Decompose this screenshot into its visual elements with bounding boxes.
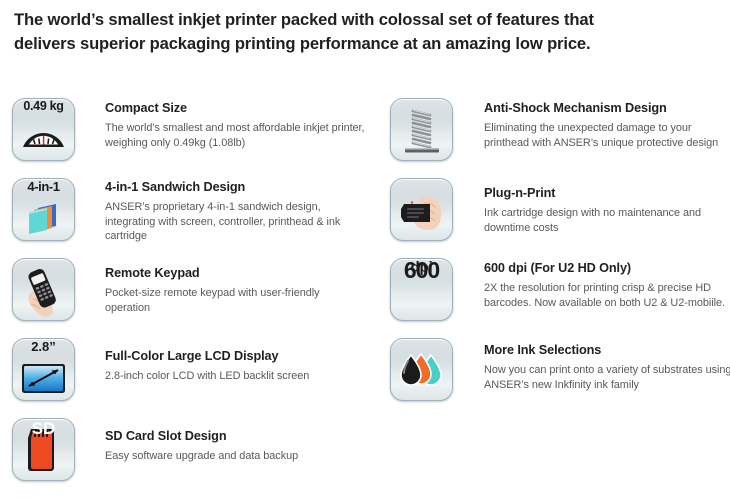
feature-description: 2.8-inch color LCD with LED backlit scre… — [105, 369, 367, 384]
sandwich-layers-icon: 4-in-1 — [12, 178, 75, 241]
feature-description: Eliminating the unexpected damage to you… — [484, 121, 730, 150]
feature-item-compact-size: 0.49 kg Compact Size The world’s smalles… — [10, 95, 370, 175]
feature-title: Anti-Shock Mechanism Design — [484, 101, 730, 116]
feature-description: The world’s smallest and most affordable… — [105, 121, 367, 150]
feature-item-sandwich-design: 4-in-1 4-in-1 Sandwich Design ANSER’s pr… — [10, 175, 370, 255]
page-headline: The world’s smallest inkjet printer pack… — [14, 8, 714, 55]
feature-text-block: Plug-n-Print Ink cartridge design with n… — [484, 186, 730, 235]
coil-spring-glyph — [391, 99, 452, 160]
hand-ink-cartridge-icon — [390, 178, 453, 241]
ink-drops-icon — [390, 338, 453, 401]
feature-title: 4-in-1 Sandwich Design — [105, 180, 367, 195]
feature-item-more-ink-selections: More Ink Selections Now you can print on… — [388, 335, 730, 415]
feature-item-anti-shock: Anti-Shock Mechanism Design Eliminating … — [388, 95, 730, 175]
hand-remote-keypad-glyph — [13, 259, 74, 320]
headline-line-2: delivers superior packaging printing per… — [14, 32, 714, 56]
feature-column-right: Anti-Shock Mechanism Design Eliminating … — [388, 95, 730, 415]
feature-item-plug-n-print: Plug-n-Print Ink cartridge design with n… — [388, 175, 730, 255]
weight-scale-icon: 0.49 kg — [12, 98, 75, 161]
feature-text-block: Remote Keypad Pocket-size remote keypad … — [105, 266, 367, 315]
headline-line-1: The world’s smallest inkjet printer pack… — [14, 8, 714, 32]
feature-description: ANSER’s proprietary 4-in-1 sandwich desi… — [105, 200, 367, 244]
feature-title: Full-Color Large LCD Display — [105, 349, 367, 364]
ink-drops-glyph — [391, 339, 452, 400]
feature-text-block: 600 dpi (For U2 HD Only) 2X the resoluti… — [484, 261, 730, 310]
feature-title: More Ink Selections — [484, 343, 730, 358]
feature-description: Ink cartridge design with no maintenance… — [484, 206, 730, 235]
sd-card-icon-label: SD — [13, 419, 74, 439]
lcd-screen-icon: 2.8” — [12, 338, 75, 401]
feature-text-block: Compact Size The world’s smallest and mo… — [105, 101, 367, 150]
hand-remote-keypad-icon — [12, 258, 75, 321]
feature-text-block: SD Card Slot Design Easy software upgrad… — [105, 429, 367, 464]
feature-description: Easy software upgrade and data backup — [105, 449, 367, 464]
feature-item-600-dpi: 600 dpi 600 dpi (For U2 HD Only) 2X the … — [388, 255, 730, 335]
feature-description: Pocket-size remote keypad with user-frie… — [105, 286, 367, 315]
sd-card-icon: SD — [12, 418, 75, 481]
weight-scale-glyph — [13, 99, 74, 160]
feature-text-block: More Ink Selections Now you can print on… — [484, 343, 730, 392]
feature-item-sd-card-slot: SD SD Card Slot Design Easy software upg… — [10, 415, 370, 495]
feature-title: SD Card Slot Design — [105, 429, 367, 444]
coil-spring-icon — [390, 98, 453, 161]
feature-text-block: Full-Color Large LCD Display 2.8-inch co… — [105, 349, 367, 384]
resolution-unit-label: dpi — [391, 259, 452, 276]
feature-item-lcd-display: 2.8” Full-Color Large LCD — [10, 335, 370, 415]
feature-item-remote-keypad: Remote Keypad Pocket-size remote keypad … — [10, 255, 370, 335]
feature-description: 2X the resolution for printing crisp & p… — [484, 281, 730, 310]
feature-title: 600 dpi (For U2 HD Only) — [484, 261, 730, 276]
feature-title: Remote Keypad — [105, 266, 367, 281]
feature-column-left: 0.49 kg Compact Size The world’s smalles… — [10, 95, 370, 495]
feature-title: Plug-n-Print — [484, 186, 730, 201]
feature-title: Compact Size — [105, 101, 367, 116]
feature-description: Now you can print onto a variety of subs… — [484, 363, 730, 392]
lcd-screen-glyph — [13, 339, 74, 400]
feature-text-block: 4-in-1 Sandwich Design ANSER’s proprieta… — [105, 180, 367, 244]
hand-ink-cartridge-glyph — [391, 179, 452, 240]
feature-text-block: Anti-Shock Mechanism Design Eliminating … — [484, 101, 730, 150]
resolution-600dpi-icon: 600 dpi — [390, 258, 453, 321]
sandwich-layers-glyph — [13, 179, 74, 240]
